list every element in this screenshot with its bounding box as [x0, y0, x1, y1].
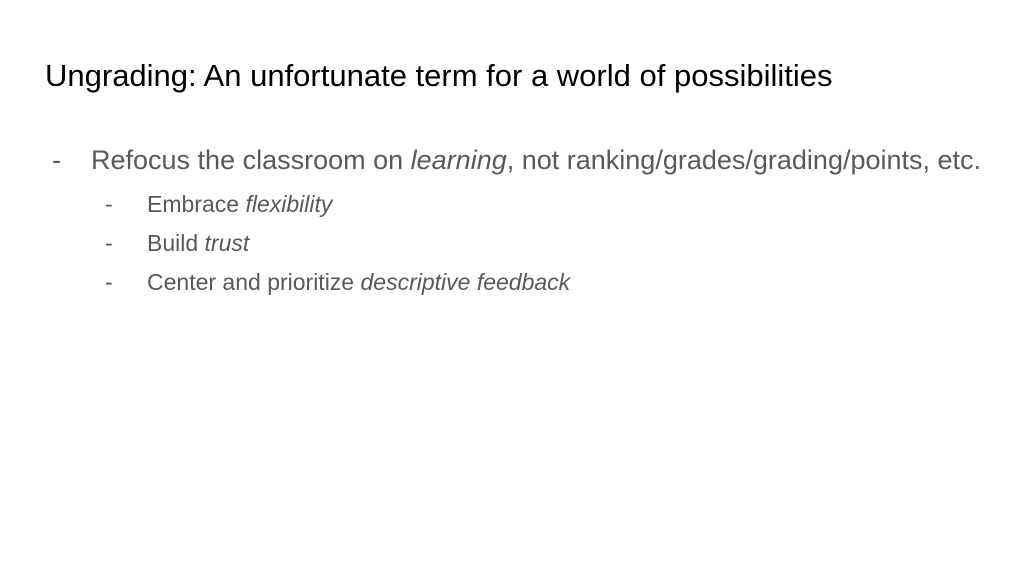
page-title: Ungrading: An unfortunate term for a wor… — [45, 58, 985, 94]
list-item-text-emphasis: flexibility — [245, 191, 332, 217]
list-item-text-emphasis: learning — [411, 145, 507, 175]
list-item-text-after: , not ranking/grades/grading/points, etc… — [507, 145, 981, 175]
bullet-marker-dash-icon: - — [105, 263, 113, 302]
bullet-marker-dash-icon: - — [52, 140, 61, 181]
bullet-marker-dash-icon: - — [105, 185, 113, 224]
list-item-text-emphasis: trust — [205, 230, 250, 256]
list-item-text-emphasis: descriptive feedback — [361, 269, 571, 295]
list-item-text-before: Embrace — [147, 191, 245, 217]
list-item: -Embrace flexibility — [45, 185, 995, 224]
bullet-list: -Refocus the classroom on learning, not … — [45, 140, 995, 302]
list-item-text-before: Refocus the classroom on — [91, 145, 411, 175]
list-item: -Build trust — [45, 224, 995, 263]
list-item-text-before: Build — [147, 230, 205, 256]
list-item: -Center and prioritize descriptive feedb… — [45, 263, 995, 302]
list-item-text-before: Center and prioritize — [147, 269, 361, 295]
presentation-slide: Ungrading: An unfortunate term for a wor… — [0, 0, 1024, 576]
list-item: -Refocus the classroom on learning, not … — [45, 140, 995, 181]
sub-bullet-list: -Embrace flexibility -Build trust -Cente… — [45, 185, 995, 302]
bullet-marker-dash-icon: - — [105, 224, 113, 263]
